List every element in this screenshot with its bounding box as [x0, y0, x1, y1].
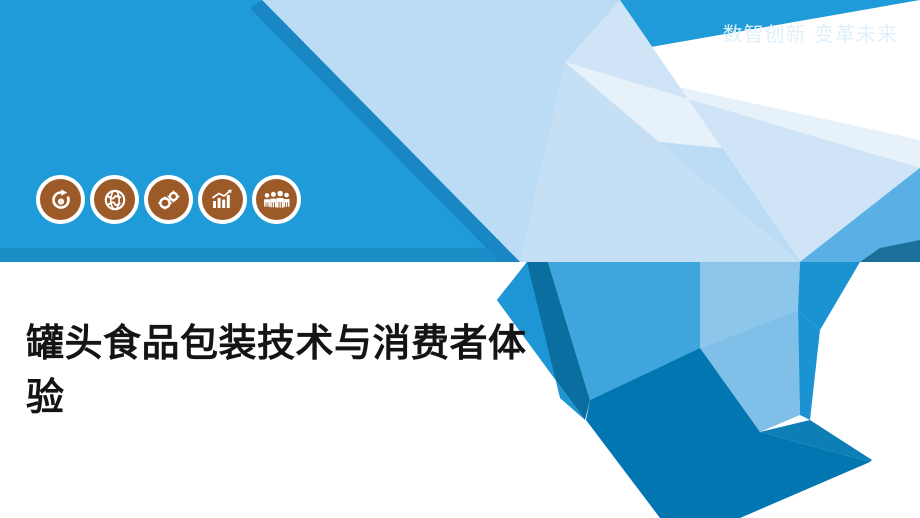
icon-disc	[94, 179, 135, 220]
icon-badge-refresh-cycle[interactable]	[36, 175, 85, 224]
low-poly-background-art	[0, 0, 920, 518]
people-group-icon	[263, 189, 291, 211]
icon-badge-bar-chart[interactable]	[198, 175, 247, 224]
title-slide: 数智创新 变革未来	[0, 0, 920, 518]
refresh-cycle-icon	[49, 188, 73, 212]
icon-disc	[256, 179, 297, 220]
gears-icon	[156, 187, 182, 213]
icon-row	[36, 175, 301, 224]
icon-disc	[148, 179, 189, 220]
page-title: 罐头食品包装技术与消费者体验	[26, 317, 546, 425]
tagline: 数智创新 变革未来	[723, 24, 898, 44]
icon-badge-globe[interactable]	[90, 175, 139, 224]
globe-icon	[103, 188, 127, 212]
icon-badge-gears[interactable]	[144, 175, 193, 224]
icon-disc	[202, 179, 243, 220]
icon-disc	[40, 179, 81, 220]
bar-chart-icon	[210, 188, 235, 212]
icon-badge-people-group[interactable]	[252, 175, 301, 224]
